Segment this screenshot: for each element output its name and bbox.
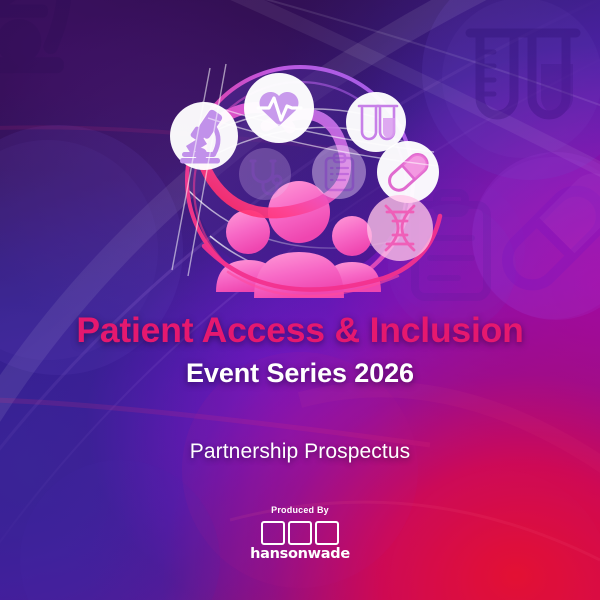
prospectus-label: Partnership Prospectus [0,440,600,464]
logo-square-2 [288,521,312,545]
produced-by-label: Produced By [0,506,600,515]
producer-block: Produced By hansonwade [0,506,600,562]
logo-square-1 [261,521,285,545]
page-title: Patient Access & Inclusion [0,312,600,350]
microscope-icon [170,102,238,170]
poster-canvas: Patient Access & Inclusion Event Series … [0,0,600,600]
logo-square-3 [315,521,339,545]
pill-capsule-icon [377,141,439,203]
logo-wordmark: hansonwade [250,547,350,562]
hansonwade-logo: hansonwade [250,521,350,562]
test-tubes-watermark-icon [442,0,600,158]
dna-helix-icon [367,195,433,261]
title-block: Patient Access & Inclusion Event Series … [0,312,600,388]
clipboard-checklist-icon [312,145,366,199]
stethoscope-icon [239,148,291,200]
page-subtitle: Event Series 2026 [0,359,600,388]
hero-graphic [148,40,452,312]
test-tubes-icon [346,92,406,152]
logo-squares [261,521,339,545]
